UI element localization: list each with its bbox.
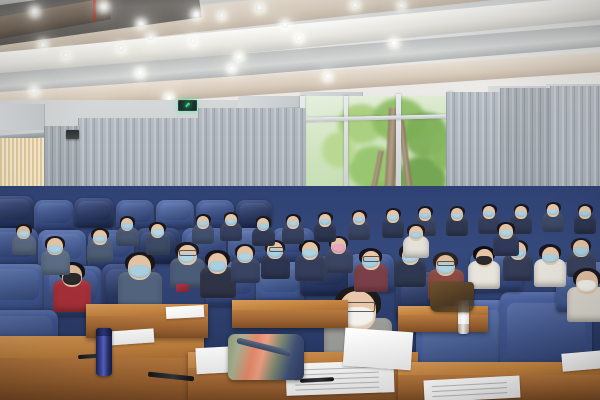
downlight-13 [236, 54, 242, 60]
audience-face-mask-5 [209, 261, 226, 272]
audience-member-2 [176, 242, 199, 280]
mid-ledge-center-top [232, 300, 348, 310]
audience-member-28 [546, 202, 560, 226]
downlight-9 [118, 45, 124, 51]
downlight-1 [100, 3, 107, 10]
downlight-21 [399, 3, 404, 8]
downlight-4 [256, 4, 263, 11]
audience-face-mask-3 [63, 273, 81, 284]
downlight-2 [138, 21, 144, 27]
blue-thermos [96, 328, 112, 376]
downlight-10 [63, 52, 69, 58]
audience-member-4 [46, 236, 65, 268]
audience-member-29 [578, 204, 592, 228]
audience-face-mask-33 [122, 223, 133, 230]
audience-member-27 [514, 204, 528, 228]
downlight-6 [352, 2, 358, 8]
audience-member-10 [360, 248, 382, 284]
paper-line-2-2 [432, 392, 507, 397]
audience-member-18 [150, 222, 166, 248]
audience-member-5 [206, 250, 229, 289]
red-phone [176, 284, 189, 292]
audience-member-31 [196, 214, 210, 238]
downlight-5 [282, 22, 288, 28]
audience-glasses-7 [269, 247, 284, 252]
audience-member-35 [498, 222, 515, 250]
downlight-0 [31, 8, 38, 15]
audience-member-23 [386, 208, 400, 232]
auditorium-seat-14 [0, 264, 44, 314]
blue-thermos-cap [96, 328, 112, 336]
audience-glasses-12 [437, 261, 455, 267]
downlight-8 [40, 42, 46, 48]
downlight-17 [31, 88, 37, 94]
audience-face-mask-4 [48, 245, 62, 254]
mid-ledge-right-face [398, 315, 488, 332]
document-paper-6 [561, 350, 600, 372]
wall-panel-0 [0, 104, 45, 130]
audience-face-mask-32 [226, 219, 236, 226]
audience-member-22 [352, 210, 366, 234]
exit-sign-glyph: ⬈ [185, 102, 191, 109]
audience-member-32 [224, 212, 238, 235]
audience-member-21 [318, 212, 332, 236]
downlight-3 [193, 11, 200, 18]
audience-face-mask-9 [332, 244, 345, 252]
audience-face-mask-19 [258, 223, 269, 230]
audience-member-34 [408, 224, 425, 252]
audience-member-13 [474, 246, 495, 281]
downlight-16 [391, 40, 397, 46]
audience-glasses-10 [363, 256, 380, 262]
mid-ledge-center [232, 300, 348, 328]
audience-member-20 [286, 214, 300, 238]
foliage-5 [322, 132, 356, 168]
audience-member-15 [540, 244, 561, 279]
red-pipe [93, 0, 96, 22]
auditorium-seat-2 [74, 198, 114, 228]
audience-member-6 [236, 244, 255, 276]
paper-line-2-0 [431, 382, 506, 387]
audience-member-30 [16, 224, 31, 250]
downlight-15 [325, 74, 330, 79]
document-paper-5 [166, 305, 205, 319]
downlight-11 [137, 70, 143, 76]
downlight-22 [148, 35, 153, 40]
audience-member-17 [92, 228, 109, 256]
water-bottle-label [458, 313, 469, 325]
paper-line-1-4 [295, 387, 379, 391]
downlight-7 [219, 13, 224, 18]
wall-speaker-icon [66, 130, 79, 139]
audience-face-mask-6 [238, 253, 252, 262]
auditorium-seat-1 [34, 200, 74, 232]
paper-line-2-1 [432, 387, 507, 392]
auditorium-photo: ⬈ [0, 0, 600, 400]
mid-ledge-center-face [232, 310, 348, 328]
audience-member-19 [256, 216, 271, 241]
document-paper-2 [423, 376, 520, 400]
audience-glasses-2 [179, 250, 197, 256]
paper-line-1-1 [294, 372, 378, 376]
audience-member-25 [450, 206, 464, 230]
audience-face-mask-18 [152, 229, 164, 236]
brown-handbag [430, 282, 474, 312]
downlight-14 [296, 35, 302, 41]
document-paper-3 [343, 328, 413, 371]
audience-member-26 [482, 204, 496, 228]
downlight-20 [229, 66, 234, 71]
audience-member-8 [300, 240, 320, 273]
downlight-12 [190, 38, 196, 44]
audience-member-33 [120, 216, 135, 241]
audience-member-36 [574, 268, 600, 312]
audience-member-1 [126, 252, 154, 299]
audience-face-mask-16 [574, 247, 588, 256]
audience-member-16 [572, 238, 591, 270]
exit-sign-icon: ⬈ [178, 100, 197, 111]
audience-face-mask-1 [129, 265, 150, 278]
